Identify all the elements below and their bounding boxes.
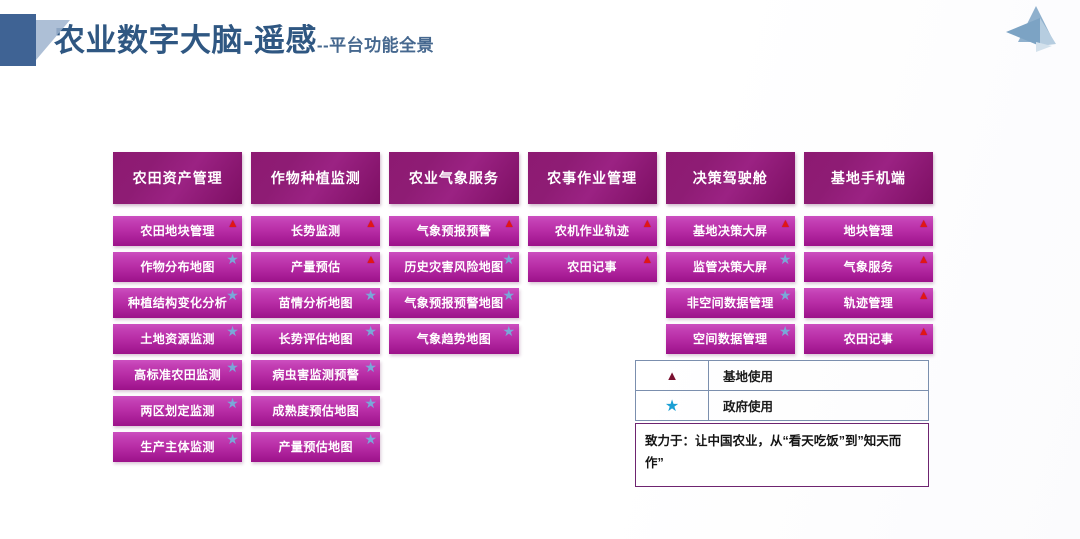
- matrix-item[interactable]: 气象预报预警地图★: [389, 288, 518, 318]
- page-title-sub: --平台功能全景: [317, 36, 434, 55]
- item-label: 地块管理: [844, 222, 894, 239]
- matrix-item[interactable]: 高标准农田监测★: [113, 360, 242, 390]
- triangle-marker-icon: ▲: [503, 217, 515, 229]
- legend-label: 基地使用: [709, 361, 929, 391]
- matrix-item[interactable]: 地块管理▲: [804, 216, 933, 246]
- matrix-column-2: 作物种植监测 长势监测▲ 产量预估▲ 苗情分析地图★ 长势评估地图★ 病虫害监测…: [251, 152, 380, 462]
- star-marker-icon: ★: [779, 288, 792, 302]
- item-label: 两区划定监测: [140, 402, 214, 419]
- page-header: 农业数字大脑-遥感--平台功能全景: [0, 12, 434, 68]
- item-label: 土地资源监测: [140, 330, 214, 347]
- item-label: 气象预报预警: [417, 222, 491, 239]
- page-title: 农业数字大脑-遥感--平台功能全景: [54, 25, 434, 56]
- item-label: 生产主体监测: [140, 438, 214, 455]
- column-header-6[interactable]: 基地手机端: [804, 152, 933, 204]
- origami-triangles-icon: [992, 2, 1076, 58]
- star-marker-icon: ★: [364, 360, 377, 374]
- matrix-item[interactable]: 气象预报预警▲: [389, 216, 518, 246]
- column-header-4[interactable]: 农事作业管理: [528, 152, 657, 204]
- item-label: 非空间数据管理: [687, 294, 774, 311]
- item-label: 种植结构变化分析: [128, 294, 227, 311]
- item-label: 苗情分析地图: [279, 294, 353, 311]
- item-label: 成熟度预估地图: [272, 402, 359, 419]
- star-marker-icon: ★: [364, 324, 377, 338]
- item-label: 基地决策大屏: [693, 222, 767, 239]
- legend-label: 政府使用: [709, 391, 929, 421]
- triangle-icon: ▲: [666, 368, 679, 383]
- matrix-item[interactable]: 长势监测▲: [251, 216, 380, 246]
- star-marker-icon: ★: [503, 252, 516, 266]
- legend-row: ▲ 基地使用: [636, 361, 929, 391]
- triangle-marker-icon: ▲: [365, 253, 377, 265]
- page-title-main: 农业数字大脑-遥感: [54, 23, 317, 58]
- matrix-item[interactable]: 土地资源监测★: [113, 324, 242, 354]
- item-label: 农田记事: [567, 258, 617, 275]
- item-label: 产量预估: [291, 258, 341, 275]
- star-marker-icon: ★: [503, 324, 516, 338]
- title-accent-bar: [0, 14, 36, 66]
- star-marker-icon: ★: [226, 432, 239, 446]
- legend-row: ★ 政府使用: [636, 391, 929, 421]
- matrix-item[interactable]: 非空间数据管理★: [666, 288, 795, 318]
- item-label: 农田地块管理: [140, 222, 214, 239]
- matrix-column-3: 农业气象服务 气象预报预警▲ 历史灾害风险地图★ 气象预报预警地图★ 气象趋势地…: [389, 152, 518, 462]
- star-marker-icon: ★: [364, 396, 377, 410]
- slogan-box: 致力于：让中国农业，从“看天吃饭”到”知天而作”: [635, 423, 929, 487]
- item-label: 产量预估地图: [279, 438, 353, 455]
- item-label: 长势监测: [291, 222, 341, 239]
- column-header-1[interactable]: 农田资产管理: [113, 152, 242, 204]
- matrix-item[interactable]: 病虫害监测预警★: [251, 360, 380, 390]
- matrix-item[interactable]: 产量预估地图★: [251, 432, 380, 462]
- triangle-marker-icon: ▲: [780, 217, 792, 229]
- legend-icon-cell: ★: [636, 391, 709, 421]
- matrix-item[interactable]: 生产主体监测★: [113, 432, 242, 462]
- matrix-item[interactable]: 轨迹管理▲: [804, 288, 933, 318]
- star-marker-icon: ★: [364, 432, 377, 446]
- triangle-marker-icon: ▲: [918, 325, 930, 337]
- item-label: 农田记事: [844, 330, 894, 347]
- matrix-item[interactable]: 农田记事▲: [528, 252, 657, 282]
- item-label: 气象预报预警地图: [404, 294, 503, 311]
- matrix-item[interactable]: 农田地块管理▲: [113, 216, 242, 246]
- title-accent-shadow: [36, 20, 70, 60]
- matrix-item[interactable]: 长势评估地图★: [251, 324, 380, 354]
- matrix-item[interactable]: 空间数据管理★: [666, 324, 795, 354]
- star-marker-icon: ★: [226, 288, 239, 302]
- matrix-item[interactable]: 种植结构变化分析★: [113, 288, 242, 318]
- star-marker-icon: ★: [226, 396, 239, 410]
- matrix-item[interactable]: 基地决策大屏▲: [666, 216, 795, 246]
- matrix-item[interactable]: 农机作业轨迹▲: [528, 216, 657, 246]
- star-marker-icon: ★: [503, 288, 516, 302]
- triangle-marker-icon: ▲: [918, 253, 930, 265]
- matrix-item[interactable]: 气象趋势地图★: [389, 324, 518, 354]
- item-label: 高标准农田监测: [134, 366, 221, 383]
- triangle-marker-icon: ▲: [365, 217, 377, 229]
- star-marker-icon: ★: [226, 324, 239, 338]
- item-label: 历史灾害风险地图: [404, 258, 503, 275]
- item-label: 空间数据管理: [693, 330, 767, 347]
- triangle-marker-icon: ▲: [918, 289, 930, 301]
- matrix-item[interactable]: 作物分布地图★: [113, 252, 242, 282]
- star-marker-icon: ★: [779, 324, 792, 338]
- item-label: 长势评估地图: [279, 330, 353, 347]
- legend: ▲ 基地使用 ★ 政府使用 致力于：让中国农业，从“看天吃饭”到”知天而作”: [635, 360, 929, 487]
- matrix-item[interactable]: 两区划定监测★: [113, 396, 242, 426]
- matrix-column-1: 农田资产管理 农田地块管理▲ 作物分布地图★ 种植结构变化分析★ 土地资源监测★…: [113, 152, 242, 462]
- item-label: 作物分布地图: [140, 258, 214, 275]
- triangle-marker-icon: ▲: [227, 217, 239, 229]
- item-label: 气象趋势地图: [417, 330, 491, 347]
- matrix-item[interactable]: 农田记事▲: [804, 324, 933, 354]
- item-label: 轨迹管理: [844, 294, 894, 311]
- matrix-item[interactable]: 监管决策大屏★: [666, 252, 795, 282]
- column-header-3[interactable]: 农业气象服务: [389, 152, 518, 204]
- triangle-marker-icon: ▲: [641, 217, 653, 229]
- legend-icon-cell: ▲: [636, 361, 709, 391]
- legend-table: ▲ 基地使用 ★ 政府使用: [635, 360, 929, 421]
- matrix-item[interactable]: 成熟度预估地图★: [251, 396, 380, 426]
- star-marker-icon: ★: [364, 288, 377, 302]
- item-label: 农机作业轨迹: [555, 222, 629, 239]
- item-label: 病虫害监测预警: [272, 366, 359, 383]
- triangle-marker-icon: ▲: [641, 253, 653, 265]
- column-header-5[interactable]: 决策驾驶舱: [666, 152, 795, 204]
- column-header-2[interactable]: 作物种植监测: [251, 152, 380, 204]
- matrix-item[interactable]: 苗情分析地图★: [251, 288, 380, 318]
- item-label: 气象服务: [844, 258, 894, 275]
- matrix-item[interactable]: 历史灾害风险地图★: [389, 252, 518, 282]
- item-label: 监管决策大屏: [693, 258, 767, 275]
- star-icon: ★: [665, 398, 679, 415]
- star-marker-icon: ★: [779, 252, 792, 266]
- matrix-item[interactable]: 产量预估▲: [251, 252, 380, 282]
- star-marker-icon: ★: [226, 360, 239, 374]
- triangle-marker-icon: ▲: [918, 217, 930, 229]
- star-marker-icon: ★: [226, 252, 239, 266]
- matrix-item[interactable]: 气象服务▲: [804, 252, 933, 282]
